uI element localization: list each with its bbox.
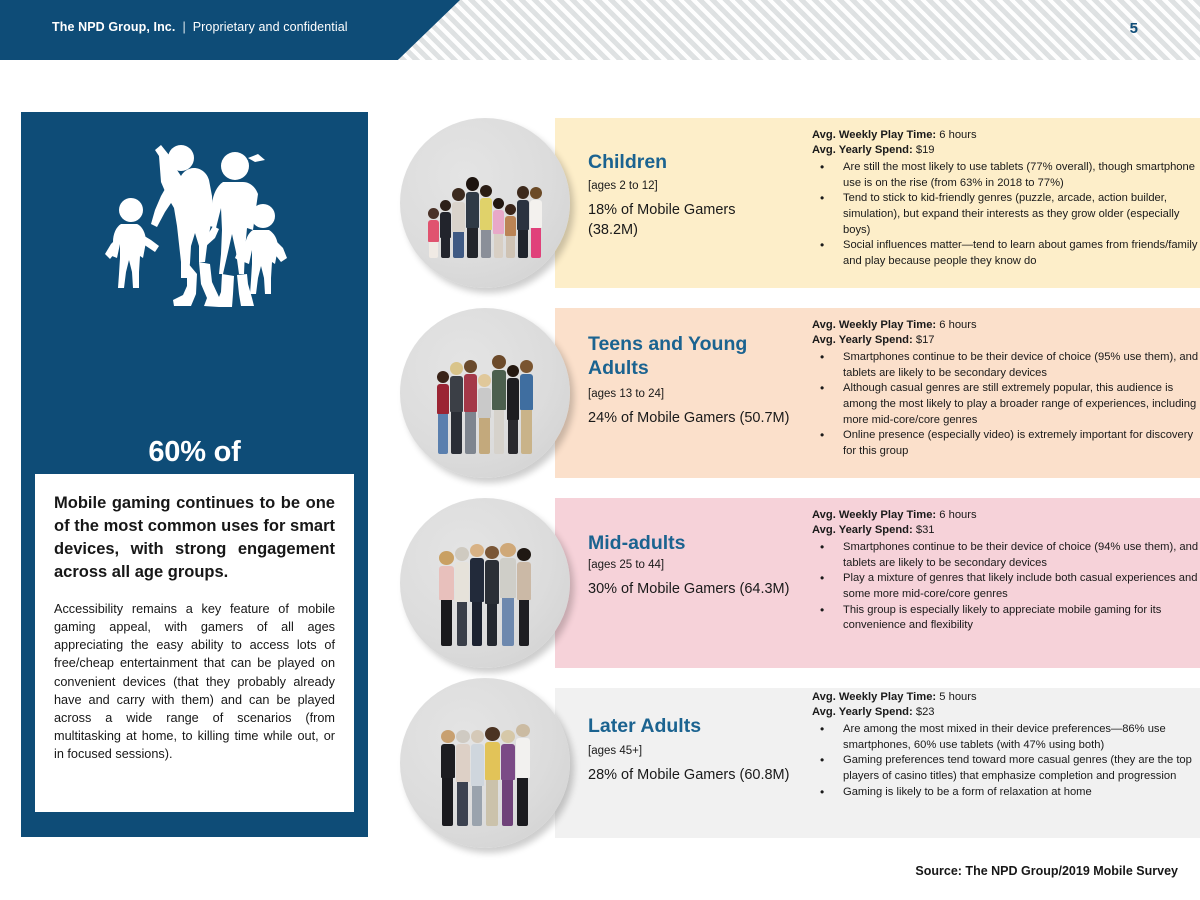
header-branding: The NPD Group, Inc.|Proprietary and conf… bbox=[52, 20, 348, 34]
list-item: Gaming is likely to be a form of relaxat… bbox=[812, 785, 1200, 801]
play-time-label: Avg. Weekly Play Time: bbox=[812, 319, 936, 331]
spend-label: Avg. Yearly Spend: bbox=[812, 706, 913, 718]
segment-row-mid-adults: Mid-adults [ages 25 to 44] 30% of Mobile… bbox=[400, 498, 1200, 668]
panel-white-card: Mobile gaming continues to be one of the… bbox=[35, 474, 354, 812]
play-time-line: Avg. Weekly Play Time: 6 hours bbox=[812, 128, 1200, 143]
page-number: 5 bbox=[1130, 20, 1138, 37]
list-item: Smartphones continue to be their device … bbox=[812, 350, 1200, 381]
play-time-label: Avg. Weekly Play Time: bbox=[812, 691, 936, 703]
segment-photo-circle bbox=[400, 498, 570, 668]
spend-value: $23 bbox=[916, 706, 935, 718]
segment-stats-children: Avg. Weekly Play Time: 6 hours Avg. Year… bbox=[812, 128, 1200, 270]
segment-bullets: Smartphones continue to be their device … bbox=[812, 350, 1200, 460]
spend-value: $17 bbox=[916, 334, 935, 346]
list-item: Smartphones continue to be their device … bbox=[812, 540, 1200, 571]
segment-share: 28% of Mobile Gamers (60.8M) bbox=[588, 766, 818, 786]
people-group-children bbox=[400, 176, 570, 258]
header-brand-label: The NPD Group, Inc. bbox=[52, 20, 175, 34]
play-time-value: 6 hours bbox=[939, 319, 976, 331]
segment-photo-circle bbox=[400, 678, 570, 848]
segment-row-later-adults: Later Adults [ages 45+] 28% of Mobile Ga… bbox=[400, 688, 1200, 838]
segment-photo-mid-adults bbox=[400, 498, 570, 668]
play-time-line: Avg. Weekly Play Time: 6 hours bbox=[812, 508, 1200, 523]
play-time-value: 6 hours bbox=[939, 129, 976, 141]
play-time-label: Avg. Weekly Play Time: bbox=[812, 129, 936, 141]
people-group-later-adults bbox=[400, 724, 570, 826]
list-item: Gaming preferences tend toward more casu… bbox=[812, 753, 1200, 784]
segment-share: 24% of Mobile Gamers (50.7M) bbox=[588, 409, 818, 429]
list-item: Although casual genres are still extreme… bbox=[812, 381, 1200, 428]
segment-bullets: Are among the most mixed in their device… bbox=[812, 722, 1200, 800]
segment-ages: [ages 2 to 12] bbox=[588, 180, 658, 192]
segment-photo-children bbox=[400, 118, 570, 288]
slide-header: The NPD Group, Inc.|Proprietary and conf… bbox=[0, 0, 1200, 60]
list-item: Social influences matter—tend to learn a… bbox=[812, 238, 1200, 269]
family-silhouette-icon bbox=[95, 134, 295, 319]
source-note: Source: The NPD Group/2019 Mobile Survey bbox=[915, 864, 1178, 878]
segment-title: Mid-adults bbox=[588, 532, 803, 556]
list-item: Tend to stick to kid-friendly genres (pu… bbox=[812, 191, 1200, 238]
segment-share: 30% of Mobile Gamers (64.3M) bbox=[588, 580, 818, 600]
play-time-line: Avg. Weekly Play Time: 5 hours bbox=[812, 690, 1200, 705]
spend-label: Avg. Yearly Spend: bbox=[812, 144, 913, 156]
segment-row-teens-and-young-adults: Teens and Young Adults [ages 13 to 24] 2… bbox=[400, 308, 1200, 478]
list-item: Play a mixture of genres that likely inc… bbox=[812, 571, 1200, 602]
spend-value: $19 bbox=[916, 144, 935, 156]
segment-title: Teens and Young Adults bbox=[588, 333, 803, 381]
list-item: Are among the most mixed in their device… bbox=[812, 722, 1200, 753]
segment-ages: [ages 25 to 44] bbox=[588, 559, 664, 571]
panel-card-lead-text: Mobile gaming continues to be one of the… bbox=[54, 492, 335, 584]
segment-photo-circle bbox=[400, 118, 570, 288]
segment-photo-circle bbox=[400, 308, 570, 478]
segment-stats-mid-adults: Avg. Weekly Play Time: 6 hours Avg. Year… bbox=[812, 508, 1200, 634]
people-group-teens bbox=[400, 350, 570, 454]
segment-photo-teens-and-young-adults bbox=[400, 308, 570, 478]
spend-line: Avg. Yearly Spend: $19 bbox=[812, 143, 1200, 158]
segment-stats-teens: Avg. Weekly Play Time: 6 hours Avg. Year… bbox=[812, 318, 1200, 460]
segment-ages: [ages 45+] bbox=[588, 745, 642, 757]
segment-share: 18% of Mobile Gamers (38.2M) bbox=[588, 201, 768, 240]
play-time-value: 6 hours bbox=[939, 509, 976, 521]
people-group-mid-adults bbox=[400, 540, 570, 646]
segment-bullets: Are still the most likely to use tablets… bbox=[812, 160, 1200, 270]
left-summary-panel: 60% of Americans/Canadians play mobile g… bbox=[21, 112, 368, 837]
spend-line: Avg. Yearly Spend: $31 bbox=[812, 523, 1200, 538]
spend-value: $31 bbox=[916, 524, 935, 536]
segment-row-children: Children [ages 2 to 12] 18% of Mobile Ga… bbox=[400, 118, 1200, 288]
list-item: Online presence (especially video) is ex… bbox=[812, 428, 1200, 459]
segment-ages: [ages 13 to 24] bbox=[588, 388, 664, 400]
list-item: This group is especially likely to appre… bbox=[812, 603, 1200, 634]
list-item: Are still the most likely to use tablets… bbox=[812, 160, 1200, 191]
segment-title: Later Adults bbox=[588, 715, 803, 739]
header-confidential-label: Proprietary and confidential bbox=[193, 20, 348, 34]
segment-photo-later-adults bbox=[400, 678, 570, 848]
segment-stats-later-adults: Avg. Weekly Play Time: 5 hours Avg. Year… bbox=[812, 690, 1200, 800]
panel-card-body-text: Accessibility remains a key feature of m… bbox=[54, 600, 335, 762]
spend-line: Avg. Yearly Spend: $17 bbox=[812, 333, 1200, 348]
spend-line: Avg. Yearly Spend: $23 bbox=[812, 705, 1200, 720]
spend-label: Avg. Yearly Spend: bbox=[812, 524, 913, 536]
play-time-label: Avg. Weekly Play Time: bbox=[812, 509, 936, 521]
header-separator: | bbox=[175, 20, 192, 34]
segment-bullets: Smartphones continue to be their device … bbox=[812, 540, 1200, 634]
play-time-value: 5 hours bbox=[939, 691, 976, 703]
play-time-line: Avg. Weekly Play Time: 6 hours bbox=[812, 318, 1200, 333]
spend-label: Avg. Yearly Spend: bbox=[812, 334, 913, 346]
segment-title: Children bbox=[588, 151, 803, 175]
